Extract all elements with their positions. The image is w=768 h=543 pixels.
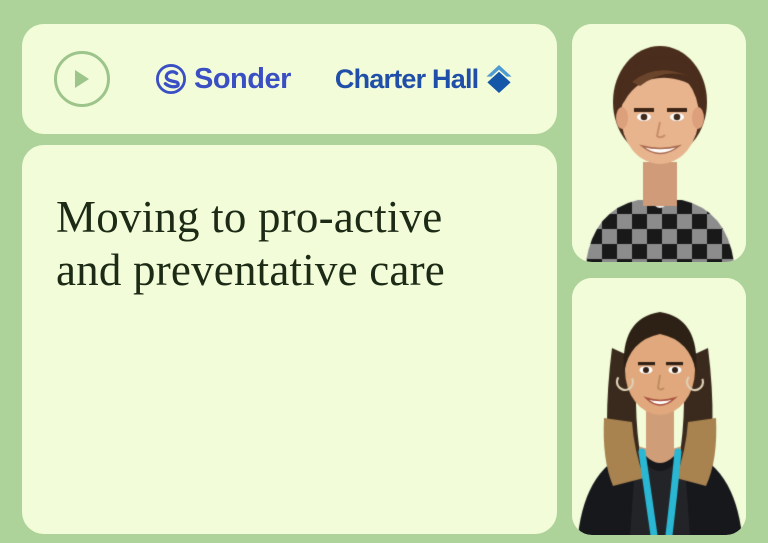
avatar [572, 278, 746, 535]
brand-bar: Sonder Charter Hall [22, 24, 557, 134]
speaker-photo-top [572, 24, 746, 262]
avatar [572, 24, 746, 262]
speaker-photo-bottom [572, 278, 746, 535]
charter-hall-diamond-mark [485, 64, 513, 94]
sonder-logo: Sonder [156, 64, 291, 94]
charter-hall-logo: Charter Hall [335, 64, 513, 94]
sonder-wordmark: Sonder [194, 65, 291, 94]
page-title: Moving to pro-active and preventative ca… [56, 191, 517, 297]
charter-hall-wordmark: Charter Hall [335, 66, 478, 93]
webinar-title-slide: Sonder Charter Hall Moving to pro-active… [0, 0, 768, 543]
headline-card: Moving to pro-active and preventative ca… [22, 145, 557, 534]
sonder-infinity-mark [156, 64, 186, 94]
left-column: Sonder Charter Hall Moving to pro-active… [22, 24, 557, 534]
play-icon[interactable] [54, 51, 110, 107]
speaker-photo-column [572, 24, 746, 535]
